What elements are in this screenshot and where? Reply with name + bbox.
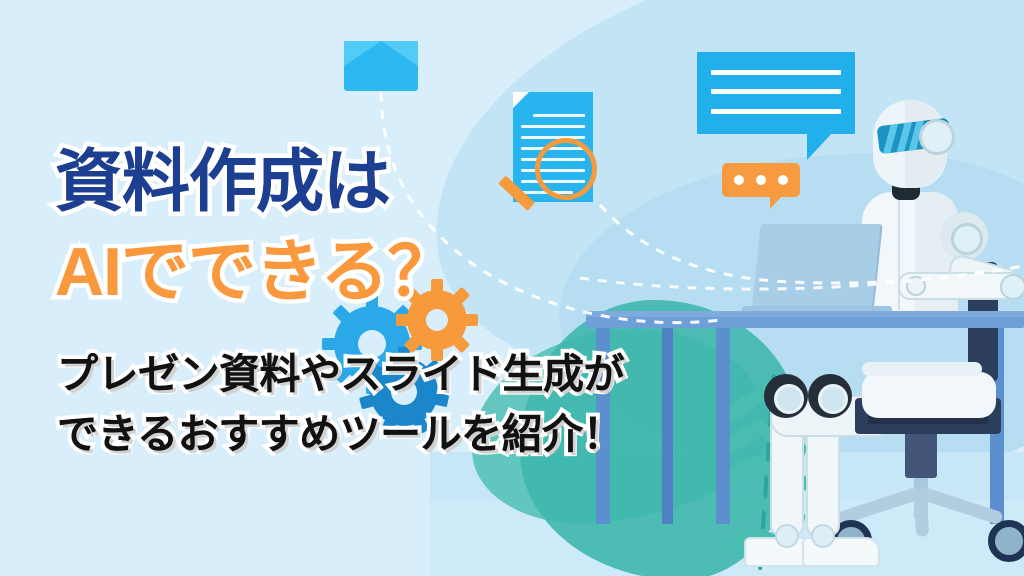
- subheadline-line1: プレゼン資料やスライド生成が: [57, 340, 624, 400]
- hero-banner: 資料作成は 資料作成は AIでできる？ AIでできる？ プレゼン資料やスライド生…: [0, 0, 1024, 576]
- subheadline-line2: できるおすすめツールを紹介！: [57, 400, 623, 460]
- headline-line2: AIでできる？: [55, 216, 455, 315]
- robot-ankle-right: [811, 524, 835, 548]
- robot-knee-left-joint: [774, 384, 804, 414]
- envelope-icon: [344, 41, 418, 91]
- desk-leg-back: [662, 328, 673, 524]
- chair-seat: [862, 372, 996, 418]
- chair-wheel-right: [988, 520, 1024, 562]
- headline-line1: 資料作成は: [55, 126, 390, 225]
- desk-top-highlight: [586, 311, 1024, 317]
- chat-bubble-blue-icon: [697, 52, 855, 134]
- chair-gas-lift: [905, 430, 937, 478]
- magnifier-icon: [535, 138, 597, 200]
- robot-ankle-left: [775, 524, 799, 548]
- chair-leg-center: [914, 496, 930, 537]
- laptop-screen: [751, 224, 880, 314]
- chat-bubble-orange-icon: [722, 163, 800, 197]
- desk-leg-mid: [716, 328, 730, 524]
- robot-knee-right-joint: [818, 384, 848, 414]
- robot-ear-disc: [919, 119, 955, 155]
- robot-hand: [1000, 274, 1024, 300]
- robot-shoulder-joint: [951, 223, 983, 255]
- chair-arm-pad: [862, 362, 982, 376]
- robot-elbow-joint: [906, 276, 926, 296]
